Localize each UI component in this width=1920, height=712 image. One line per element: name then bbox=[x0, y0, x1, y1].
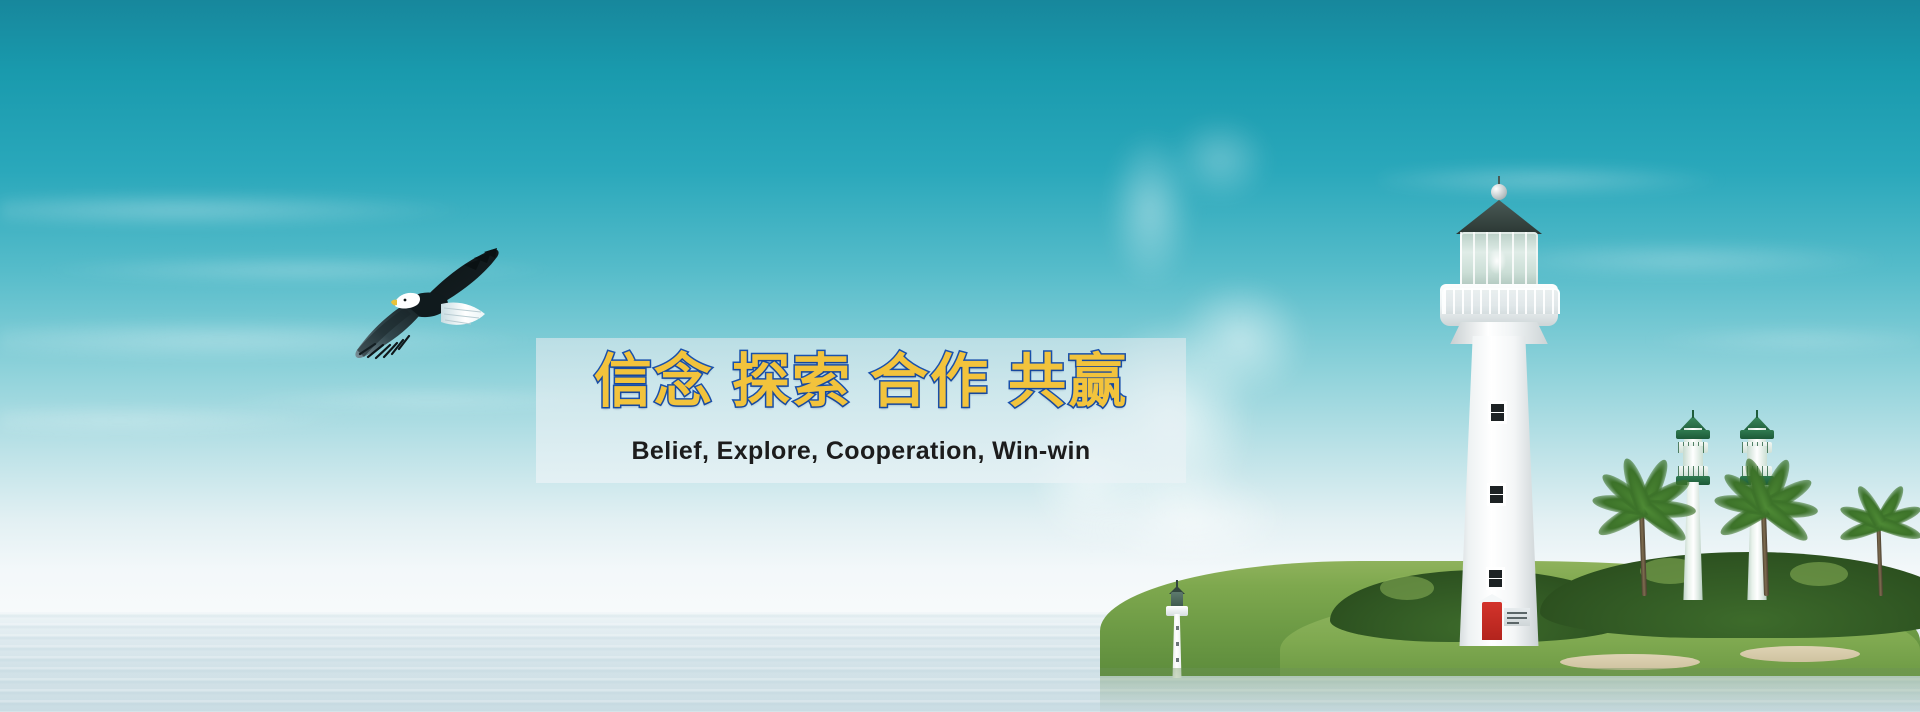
lantern-lens-glow bbox=[1488, 248, 1506, 274]
small-lighthouse-window bbox=[1176, 642, 1179, 646]
lighthouse-roof-icon bbox=[1456, 200, 1542, 234]
tower-midsection bbox=[1683, 446, 1703, 468]
small-lighthouse bbox=[1160, 580, 1194, 680]
eagle-icon bbox=[345, 238, 505, 368]
palm-trunk bbox=[1761, 510, 1769, 596]
tower-spire-icon bbox=[1692, 410, 1694, 418]
palm-tree-right bbox=[1714, 466, 1824, 596]
palm-tree-far-right bbox=[1838, 489, 1920, 596]
lighthouse-window bbox=[1489, 570, 1502, 587]
slogan-panel: 信念 探索 合作 共赢 Belief, Explore, Cooperation… bbox=[536, 338, 1186, 483]
tower-spire-icon bbox=[1756, 410, 1758, 418]
lighthouse-window bbox=[1491, 404, 1504, 421]
tower-band-upper bbox=[1676, 430, 1710, 439]
hero-banner: 信念 探索 合作 共赢 Belief, Explore, Cooperation… bbox=[0, 0, 1920, 712]
small-lighthouse-spire-icon bbox=[1176, 580, 1178, 587]
tower-band-upper bbox=[1740, 430, 1774, 439]
foliage-highlight-1 bbox=[1380, 576, 1434, 600]
small-lighthouse-window bbox=[1176, 658, 1179, 662]
lighthouse-window bbox=[1490, 486, 1503, 503]
small-lighthouse-window bbox=[1176, 626, 1179, 630]
main-lighthouse bbox=[1434, 176, 1564, 646]
sand-bunker-right bbox=[1740, 646, 1860, 662]
palm-trunk bbox=[1876, 525, 1883, 596]
lighthouse-plaque bbox=[1504, 608, 1530, 626]
palm-tree-left bbox=[1592, 466, 1702, 596]
palm-trunk bbox=[1639, 510, 1647, 596]
lighthouse-lantern-room bbox=[1460, 232, 1538, 290]
lighthouse-door bbox=[1482, 602, 1502, 640]
lighthouse-gallery-railing bbox=[1442, 288, 1560, 314]
slogan-english: Belief, Explore, Cooperation, Win-win bbox=[536, 434, 1186, 468]
shore-reflection bbox=[1100, 668, 1920, 712]
lighthouse-finial-ball bbox=[1491, 184, 1507, 200]
slogan-chinese: 信念 探索 合作 共赢 bbox=[536, 344, 1186, 420]
